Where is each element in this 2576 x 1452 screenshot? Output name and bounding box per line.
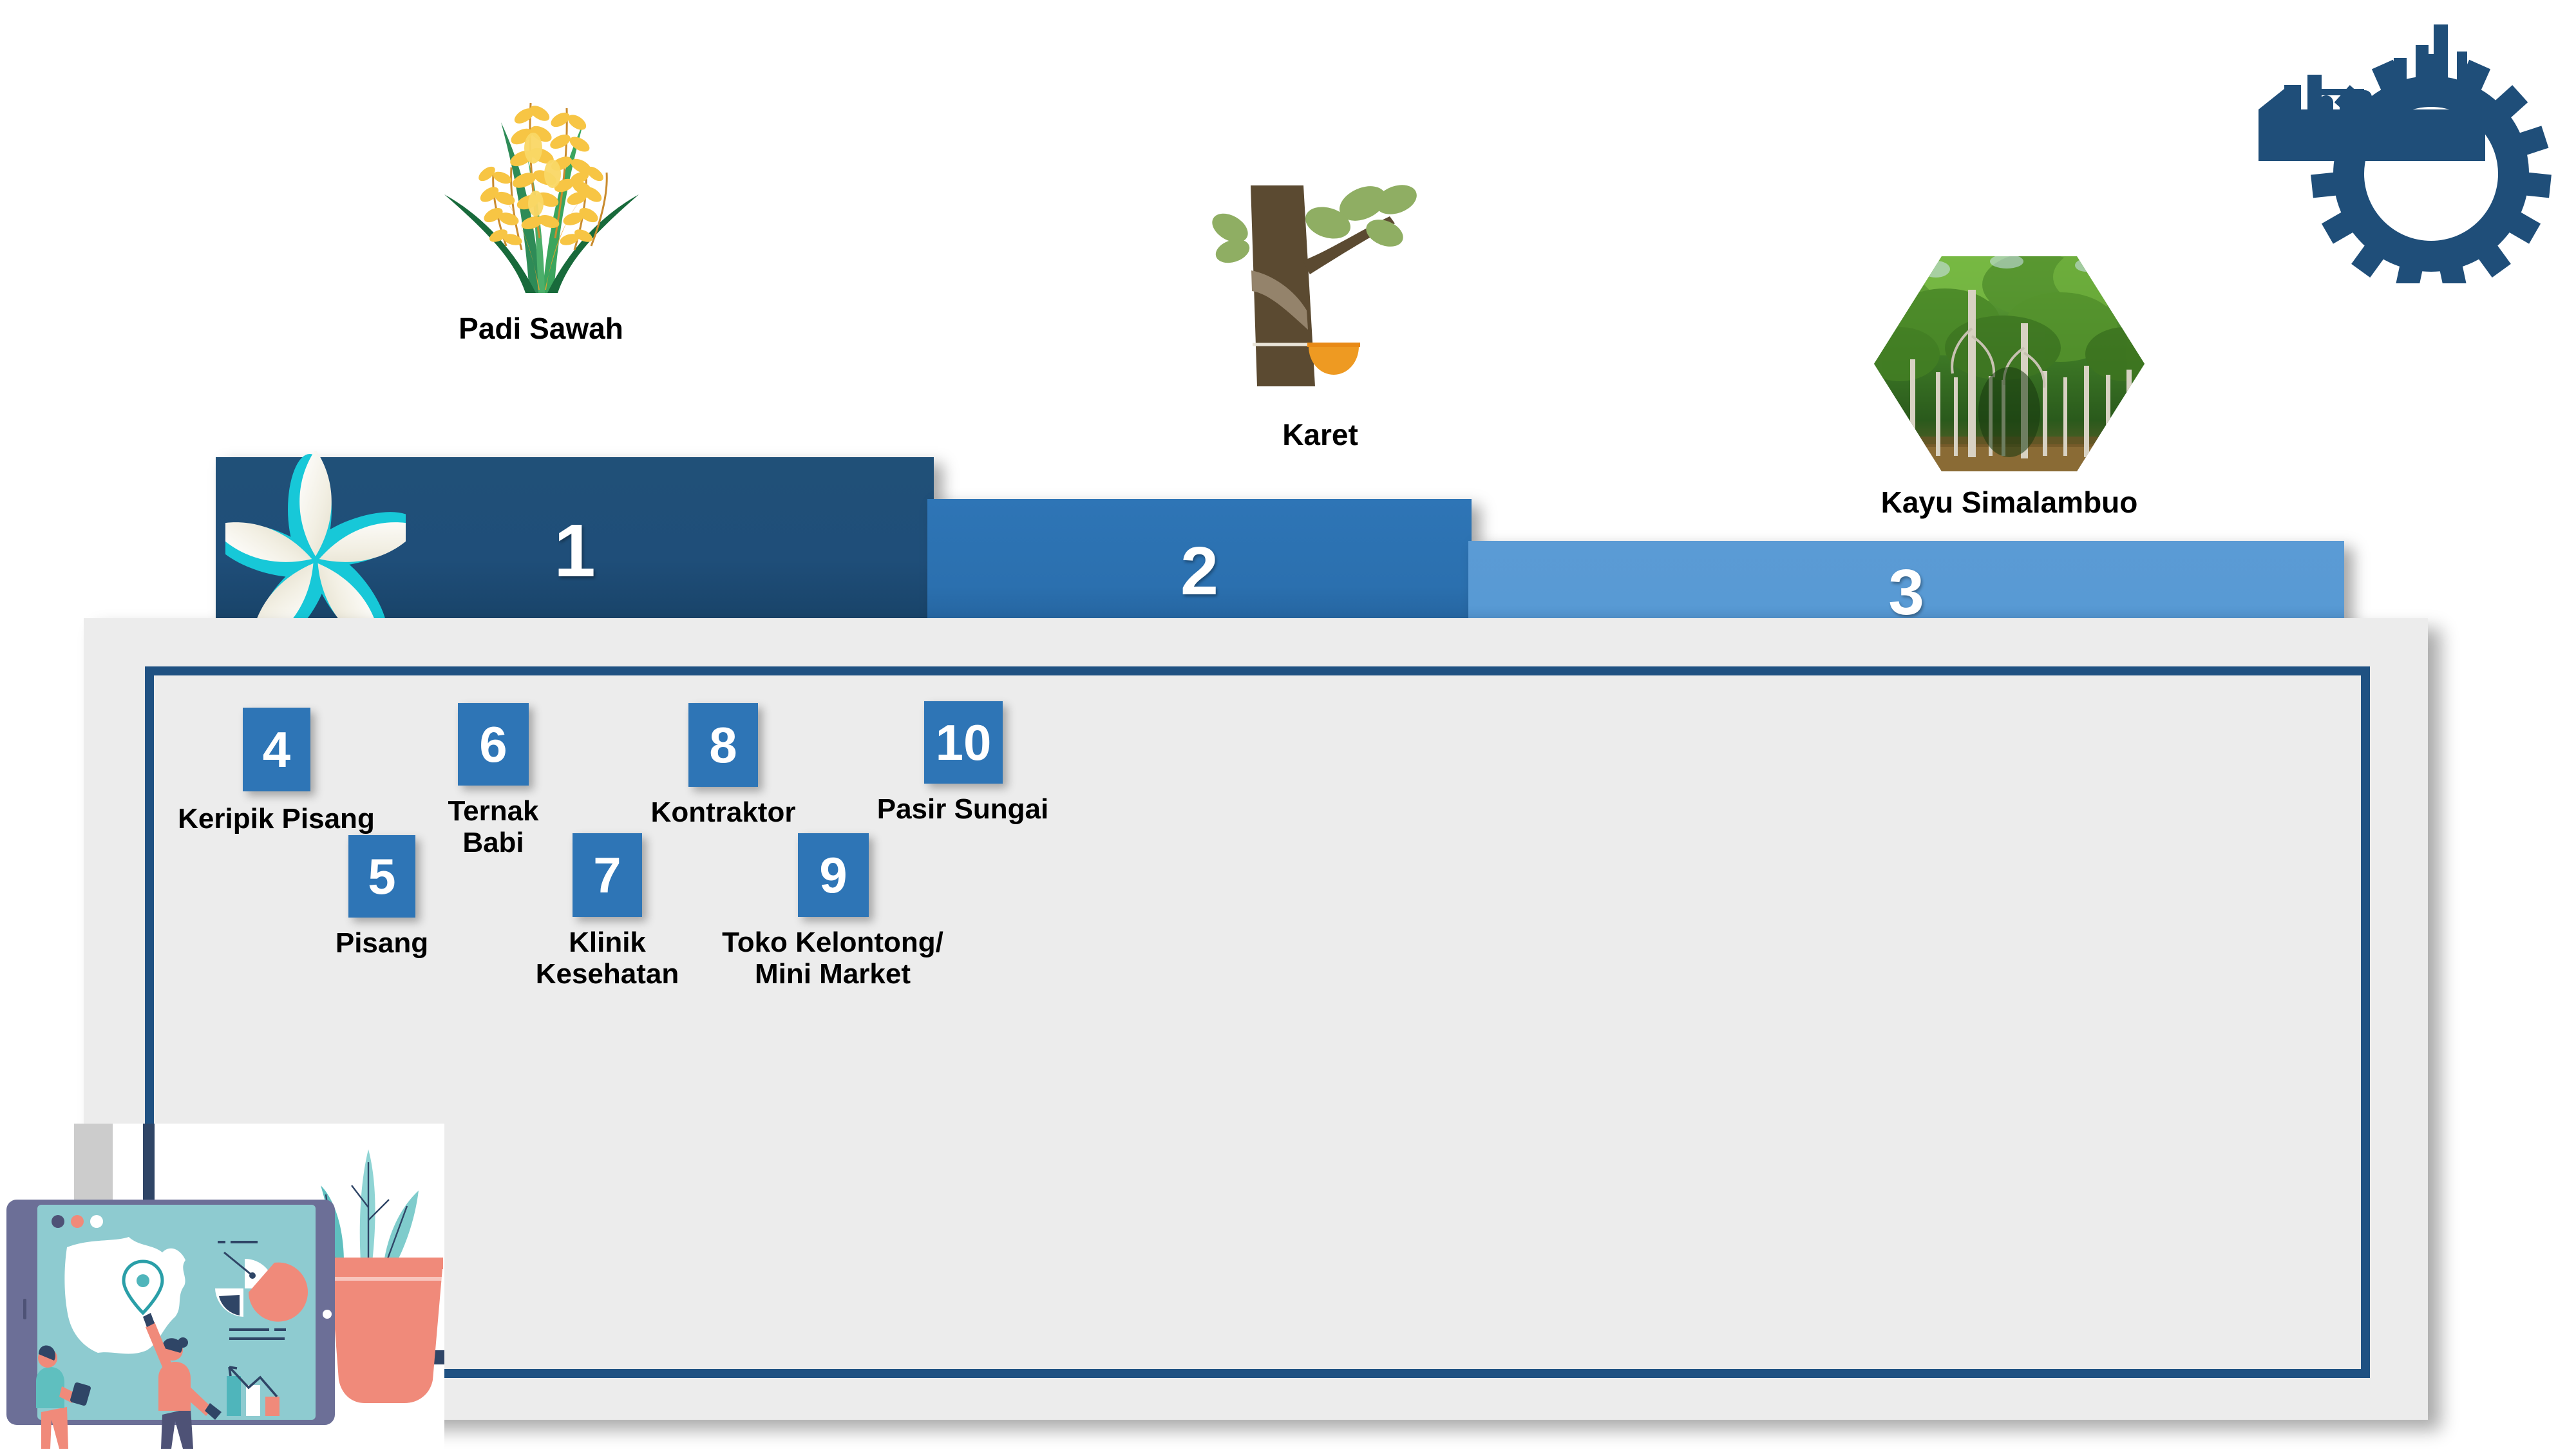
- item-label: Kontraktor: [607, 797, 839, 828]
- item-number: 6: [479, 719, 507, 769]
- item-label: Toko Kelontong/ Mini Market: [636, 927, 1030, 990]
- item-number-badge[interactable]: 9: [798, 833, 869, 917]
- item-number-badge[interactable]: 4: [243, 708, 310, 791]
- item-number-badge[interactable]: 7: [573, 833, 642, 917]
- item-number: 4: [263, 724, 290, 775]
- podium-rank-number-2: 2: [1180, 533, 1218, 610]
- item-number-badge[interactable]: 8: [688, 703, 758, 787]
- item-label: Keripik Pisang: [147, 803, 405, 834]
- industry-gear-skyline-icon: [2225, 13, 2573, 283]
- item-label: Pisang: [285, 927, 478, 959]
- podium-bar-rank-1[interactable]: 1: [216, 457, 934, 644]
- item-number: 9: [819, 850, 847, 900]
- item-number: 8: [709, 720, 737, 770]
- item-number-badge[interactable]: 10: [924, 701, 1003, 784]
- item-number-badge[interactable]: 5: [348, 835, 415, 918]
- item-number: 7: [593, 850, 621, 900]
- item-label: Pasir Sungai: [866, 793, 1059, 825]
- podium: 1 2 3: [0, 0, 2576, 644]
- item-number-badge[interactable]: 6: [458, 703, 529, 786]
- item-number: 5: [368, 851, 395, 901]
- data-presentation-illustration: [0, 1124, 444, 1449]
- item-label: Ternak Babi: [397, 795, 590, 859]
- podium-rank-number-1: 1: [554, 507, 596, 594]
- item-number: 10: [936, 717, 992, 768]
- items-panel-inner-border: 4 Keripik Pisang 6 Ternak Babi 8 Kontrak…: [145, 666, 2370, 1378]
